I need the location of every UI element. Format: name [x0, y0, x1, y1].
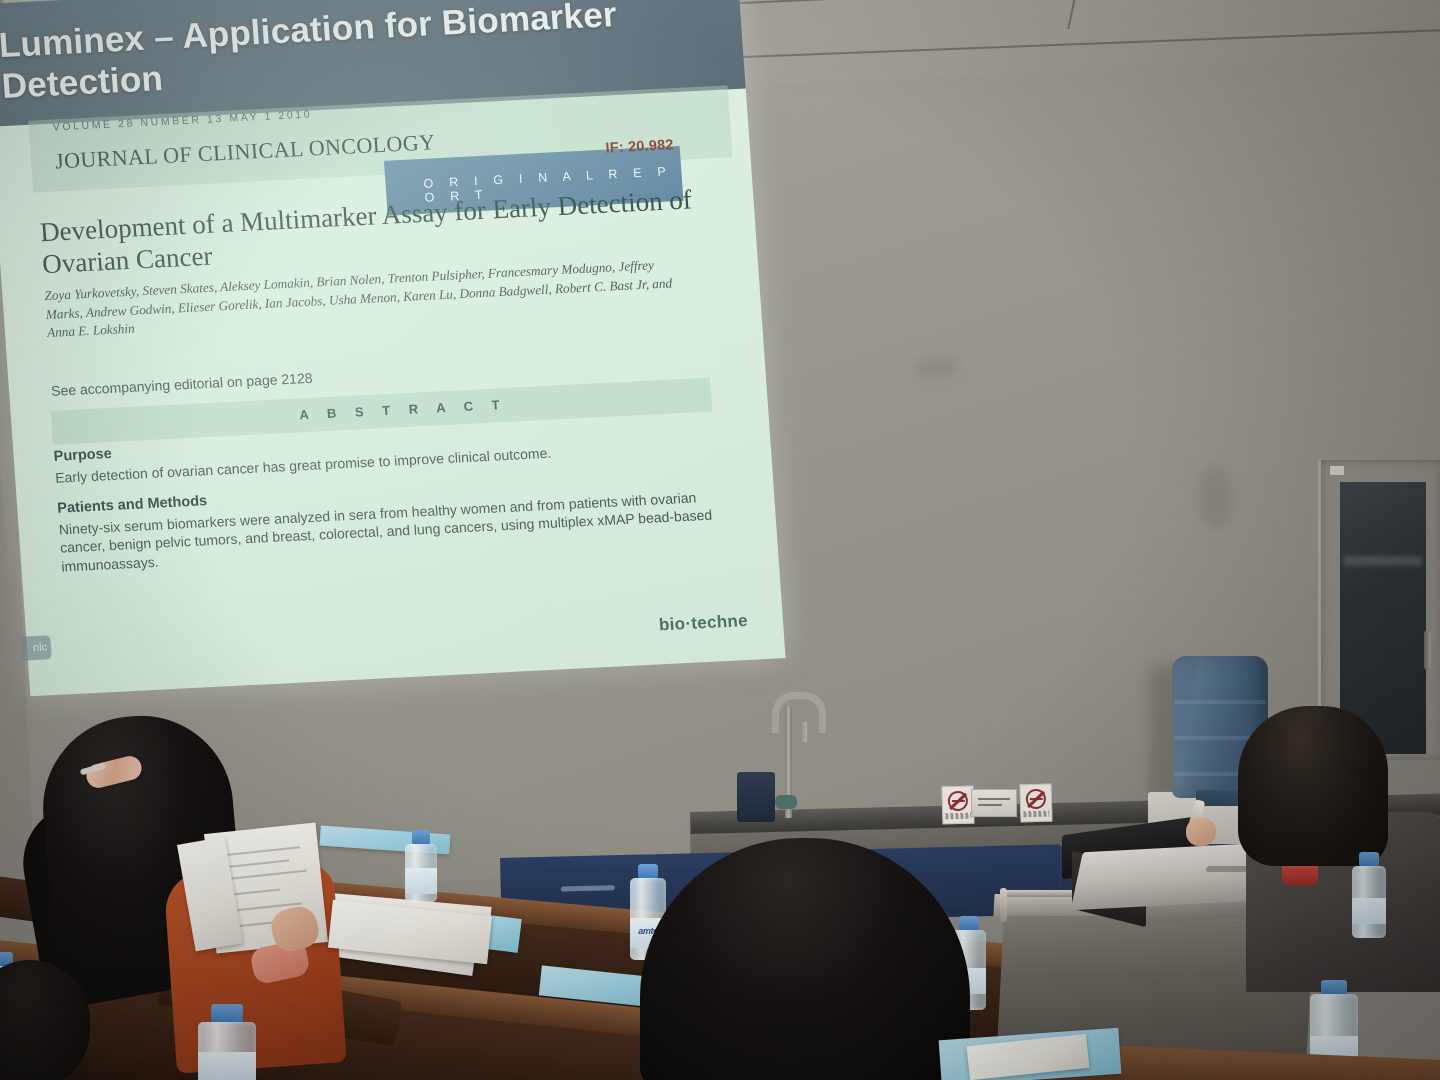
bottle-label — [198, 1052, 256, 1080]
desk-placard — [971, 789, 1017, 817]
presenter-hand — [1186, 818, 1216, 846]
bottle-cap — [1321, 980, 1348, 995]
faucet-arc — [772, 692, 826, 733]
door-tag — [1330, 466, 1344, 475]
bottle-cap — [412, 830, 430, 845]
door-glass-reflection — [1344, 556, 1422, 566]
bottle-cap — [1359, 852, 1378, 867]
biotechne-logo: bio·techne — [658, 611, 748, 635]
presenter-hair — [1238, 706, 1388, 866]
water-bottle[interactable] — [1352, 852, 1386, 938]
abstract-heading: A B S T R A C T — [299, 397, 508, 422]
bottle-cap — [959, 916, 978, 931]
projected-slide: Luminex – Application for Biomarker Dete… — [0, 0, 786, 696]
bench-equipment-box — [737, 772, 775, 822]
water-bottle[interactable] — [198, 1004, 256, 1080]
editorial-note: See accompanying editorial on page 2128 — [51, 370, 313, 399]
faucet-spout — [800, 722, 807, 742]
faucet-knob[interactable] — [775, 795, 797, 809]
bottle-cap — [211, 1004, 243, 1024]
purpose-heading: Purpose — [53, 446, 112, 465]
corner-logo: nlc — [20, 635, 52, 660]
no-smoking-sign — [942, 786, 975, 825]
water-bottle[interactable] — [405, 830, 437, 902]
door-handle[interactable] — [1424, 630, 1431, 670]
bottle-cap — [638, 864, 658, 879]
no-smoking-sign — [1020, 784, 1053, 823]
cart-rail-post — [1000, 888, 1007, 922]
bottle-label — [405, 868, 437, 894]
methods-heading: Patients and Methods — [57, 493, 208, 517]
projection-screen: Luminex – Application for Biomarker Dete… — [0, 0, 786, 702]
purpose-body: Early detection of ovarian cancer has gr… — [55, 435, 716, 487]
conference-room-scene: Luminex – Application for Biomarker Dete… — [0, 0, 1440, 1080]
bottle-label — [1352, 898, 1386, 924]
